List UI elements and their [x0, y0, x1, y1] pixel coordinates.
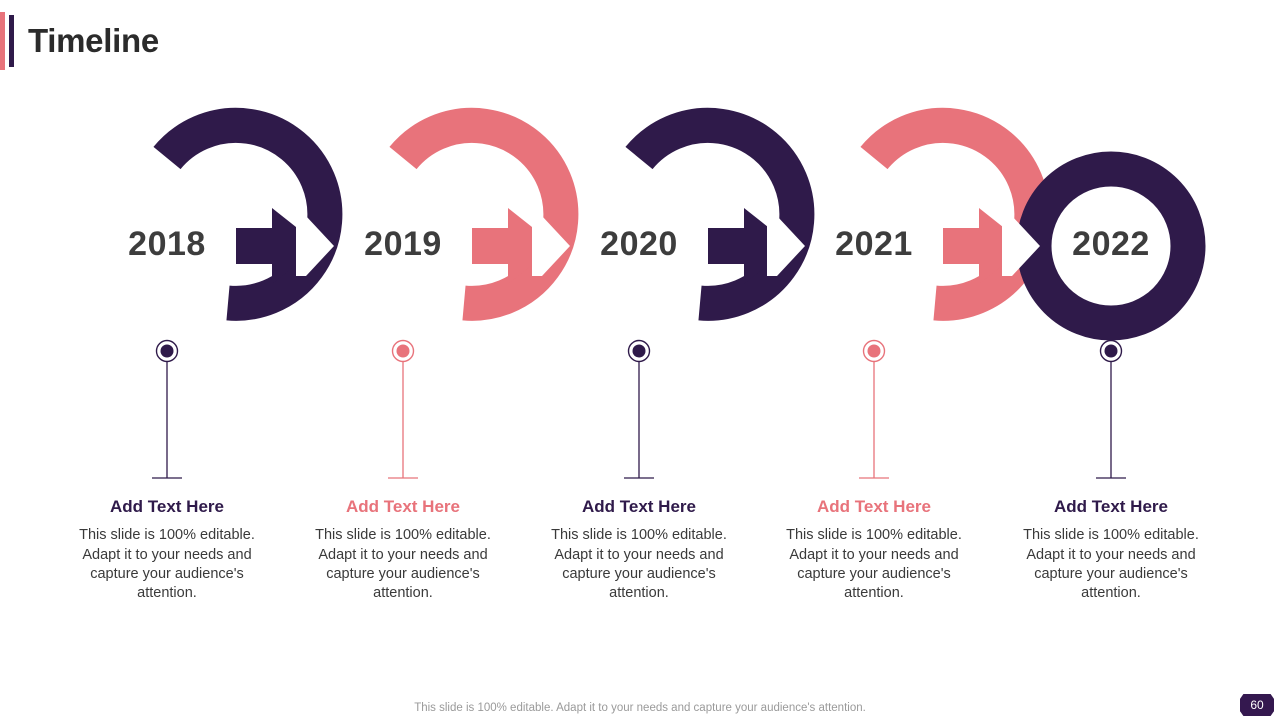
timeline-node-2021[interactable]	[767, 125, 1032, 478]
page-title: Timeline	[28, 22, 159, 60]
text-block-body-2022: This slide is 100% editable. Adapt it to…	[1011, 526, 1211, 603]
ring-arc-2020	[639, 125, 797, 303]
timeline-node-2022[interactable]	[1002, 169, 1188, 478]
text-block-body-2018: This slide is 100% editable. Adapt it to…	[67, 526, 267, 603]
connector-dot-2019	[397, 345, 410, 358]
connector-dot-2022	[1105, 345, 1118, 358]
text-block-heading-2020: Add Text Here	[539, 497, 739, 517]
page-title-block: Timeline	[0, 12, 159, 70]
year-label-2022: 2022	[1011, 225, 1211, 264]
connector-dot-outer-ring-2018	[157, 341, 178, 362]
timeline-node-2019[interactable]	[296, 125, 561, 478]
connector-dot-outer-ring-2020	[629, 341, 650, 362]
text-block-body-2021: This slide is 100% editable. Adapt it to…	[774, 526, 974, 603]
text-block-body-2019: This slide is 100% editable. Adapt it to…	[303, 526, 503, 603]
ring-arc-2018	[167, 125, 325, 303]
timeline-node-2020[interactable]	[532, 125, 797, 478]
text-block-body-2020: This slide is 100% editable. Adapt it to…	[539, 526, 739, 603]
timeline-graphic	[0, 0, 1280, 720]
year-label-2021: 2021	[774, 225, 974, 264]
year-label-2018: 2018	[67, 225, 267, 264]
connector-dot-2020	[633, 345, 646, 358]
text-block-heading-2022: Add Text Here	[1011, 497, 1211, 517]
timeline-node-2018[interactable]	[152, 125, 325, 478]
text-block-2022: Add Text Here This slide is 100% editabl…	[1011, 497, 1211, 604]
connector-dot-2018	[161, 345, 174, 358]
ring-arc-2019	[403, 125, 561, 303]
text-block-heading-2021: Add Text Here	[774, 497, 974, 517]
ring-arc-2021	[874, 125, 1032, 303]
text-block-2020: Add Text Here This slide is 100% editabl…	[539, 497, 739, 604]
title-accent-purple-bar	[9, 15, 14, 67]
text-block-2019: Add Text Here This slide is 100% editabl…	[303, 497, 503, 604]
footer-note: This slide is 100% editable. Adapt it to…	[0, 702, 1280, 714]
text-block-heading-2018: Add Text Here	[67, 497, 267, 517]
connector-dot-outer-ring-2019	[393, 341, 414, 362]
text-block-heading-2019: Add Text Here	[303, 497, 503, 517]
connector-dot-outer-ring-2022	[1101, 341, 1122, 362]
connector-dot-2021	[868, 345, 881, 358]
timeline-svg	[0, 0, 1280, 720]
text-block-2018: Add Text Here This slide is 100% editabl…	[67, 497, 267, 604]
page-number-badge: 60	[1240, 694, 1274, 716]
text-block-2021: Add Text Here This slide is 100% editabl…	[774, 497, 974, 604]
year-label-2019: 2019	[303, 225, 503, 264]
connector-dot-outer-ring-2021	[864, 341, 885, 362]
year-label-2020: 2020	[539, 225, 739, 264]
